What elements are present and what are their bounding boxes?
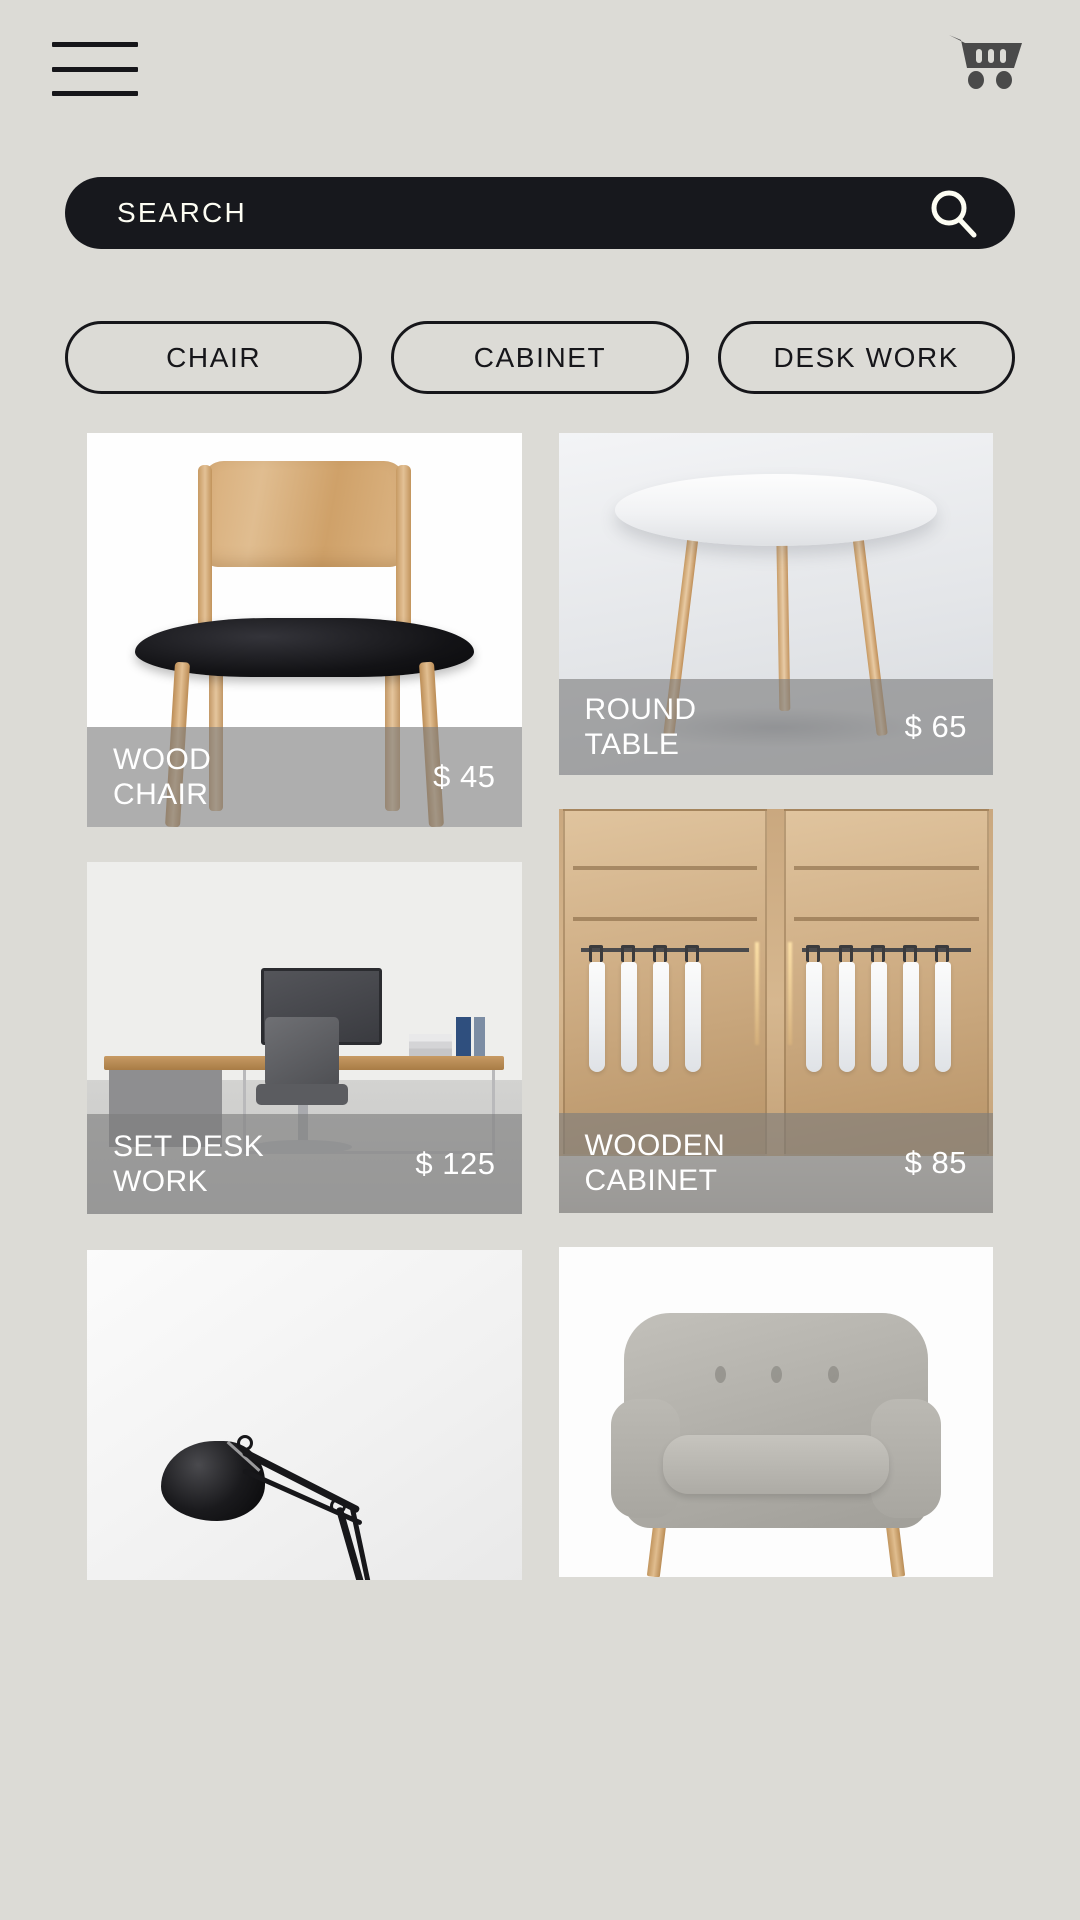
search-placeholder-text: SEARCH xyxy=(117,197,247,229)
cabinet-unit xyxy=(563,809,767,1156)
clothes-hanger xyxy=(839,945,853,962)
product-card-desk-lamp[interactable] xyxy=(87,1250,522,1580)
office-chair-seat xyxy=(256,1084,347,1105)
armchair-photo xyxy=(559,1247,994,1577)
product-grid: WOOD CHAIR $ 45 xyxy=(0,433,1080,1580)
table-top xyxy=(615,474,937,546)
hamburger-line xyxy=(52,42,138,47)
hanging-shirt xyxy=(871,962,887,1072)
shopping-cart-icon[interactable] xyxy=(948,30,1030,102)
product-price: $ 125 xyxy=(415,1146,495,1182)
armchair-leg xyxy=(647,1524,666,1577)
product-info-overlay: WOOD CHAIR $ 45 xyxy=(87,727,522,827)
search-input[interactable]: SEARCH xyxy=(65,177,1015,249)
armchair-button xyxy=(715,1366,726,1383)
product-price: $ 85 xyxy=(905,1145,967,1181)
hanging-shirt xyxy=(685,962,701,1072)
armchair-button xyxy=(828,1366,839,1383)
hanging-shirt xyxy=(589,962,605,1072)
hanging-shirt xyxy=(935,962,951,1072)
product-column-left: WOOD CHAIR $ 45 xyxy=(87,433,522,1580)
search-section: SEARCH xyxy=(0,177,1080,249)
product-card-wooden-cabinet[interactable]: WOODEN CABINET $ 85 xyxy=(559,809,994,1213)
product-column-right: ROUND TABLE $ 65 xyxy=(559,433,994,1580)
product-name: SET DESK WORK xyxy=(113,1129,264,1200)
category-chip-chair[interactable]: CHAIR xyxy=(65,321,362,394)
cabinet-light-strip xyxy=(755,942,759,1045)
magnifier-icon[interactable] xyxy=(925,185,981,241)
hanging-shirt xyxy=(653,962,669,1072)
product-card-round-table[interactable]: ROUND TABLE $ 65 xyxy=(559,433,994,775)
cabinet-unit xyxy=(784,809,988,1156)
clothes-hanger xyxy=(903,945,917,962)
product-name: WOODEN CABINET xyxy=(585,1128,726,1199)
office-chair-back xyxy=(265,1017,339,1087)
clothes-hanger xyxy=(589,945,603,962)
clothes-hanger xyxy=(806,945,820,962)
clothes-hanger xyxy=(621,945,635,962)
hamburger-line xyxy=(52,67,138,72)
hamburger-line xyxy=(52,91,138,96)
product-card-wood-chair[interactable]: WOOD CHAIR $ 45 xyxy=(87,433,522,827)
product-card-set-desk-work[interactable]: SET DESK WORK $ 125 xyxy=(87,862,522,1214)
product-card-armchair[interactable] xyxy=(559,1247,994,1577)
product-name: ROUND TABLE xyxy=(585,692,697,763)
product-price: $ 45 xyxy=(433,759,495,795)
chair-backrest xyxy=(202,461,406,567)
clothes-hanger xyxy=(653,945,667,962)
clothes-hanger xyxy=(871,945,885,962)
category-chip-desk-work[interactable]: DESK WORK xyxy=(718,321,1015,394)
desk-book xyxy=(456,1017,471,1056)
clothes-hanger xyxy=(935,945,949,962)
cabinet-shelf xyxy=(573,917,757,921)
hanging-shirt xyxy=(839,962,855,1072)
category-filter-bar: CHAIR CABINET DESK WORK xyxy=(0,321,1080,394)
app-header xyxy=(0,0,1080,130)
desk-books xyxy=(409,1034,452,1055)
desk-lamp-photo xyxy=(87,1250,522,1580)
armchair-cushion xyxy=(663,1435,889,1494)
product-info-overlay: SET DESK WORK $ 125 xyxy=(87,1114,522,1214)
hamburger-menu-icon[interactable] xyxy=(52,42,138,96)
category-chip-cabinet[interactable]: CABINET xyxy=(391,321,688,394)
hanging-shirt xyxy=(903,962,919,1072)
product-price: $ 65 xyxy=(905,709,967,745)
hanging-shirt xyxy=(806,962,822,1072)
hanging-shirt xyxy=(621,962,637,1072)
armchair-leg xyxy=(886,1524,905,1577)
desk-book xyxy=(474,1017,485,1056)
product-info-overlay: WOODEN CABINET $ 85 xyxy=(559,1113,994,1213)
cabinet-light-strip xyxy=(788,942,792,1045)
clothes-hanger xyxy=(685,945,699,962)
product-name: WOOD CHAIR xyxy=(113,742,211,813)
cabinet-shelf xyxy=(794,866,978,870)
cabinet-shelf xyxy=(794,917,978,921)
product-info-overlay: ROUND TABLE $ 65 xyxy=(559,679,994,775)
cabinet-shelf xyxy=(573,866,757,870)
